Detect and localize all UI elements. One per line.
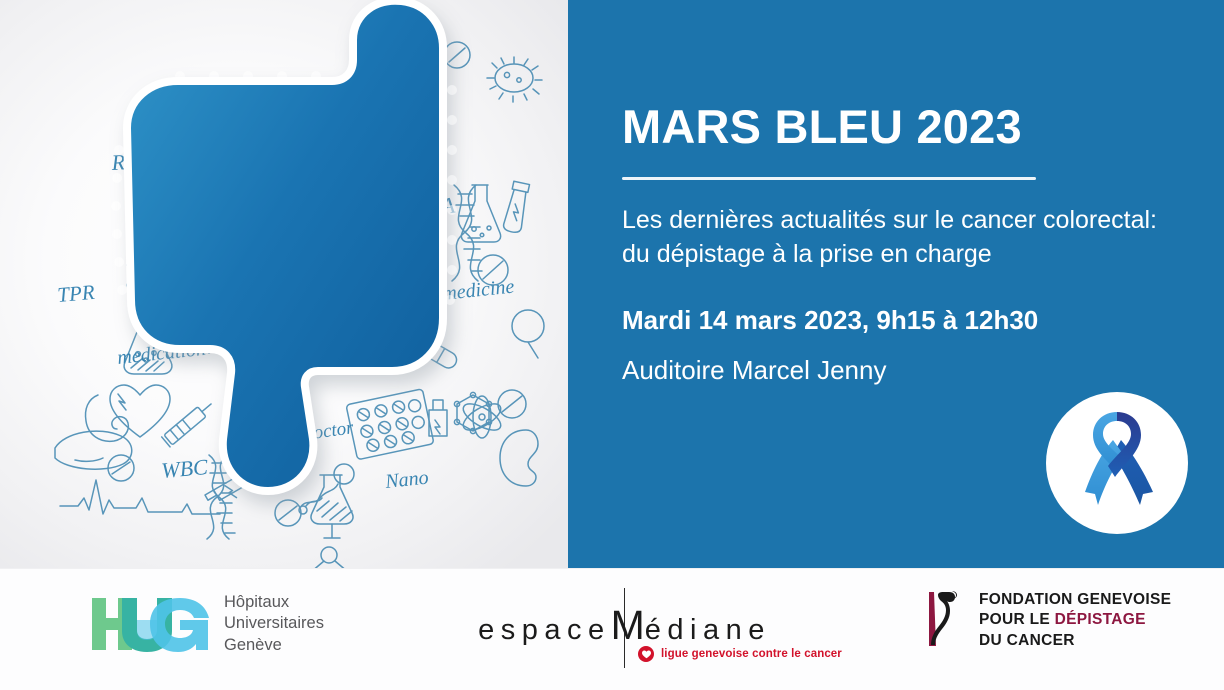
awareness-ribbon-badge [1046, 392, 1188, 534]
fondation-figure-icon [925, 590, 965, 648]
fondation-wordmark: FONDATION GENEVOISE POUR LE DÉPISTAGE DU… [979, 590, 1171, 651]
fondation-line-1: FONDATION GENEVOISE [979, 590, 1171, 610]
poster-title: MARS BLEU 2023 [622, 102, 1022, 151]
hug-wordmark: Hôpitaux Universitaires Genève [224, 592, 324, 656]
fondation-line-2-accent: DÉPISTAGE [1055, 611, 1146, 628]
fondation-line-2-prefix: POUR LE [979, 611, 1055, 628]
hug-line-3: Genève [224, 635, 324, 656]
illustration-panel: virus RBC TPR medication WBC DNA medicin… [0, 0, 568, 568]
poster-subtitle: Les dernières actualités sur le cancer c… [622, 203, 1182, 271]
hug-mark-icon [92, 596, 210, 652]
event-datetime: Mardi 14 mars 2023, 9h15 à 12h30 [622, 305, 1038, 336]
ligue-tagline-text: ligue genevoise contre le cancer [661, 648, 842, 660]
logo-espace-mediane[interactable]: espaceMédiane ligue genevoise contre le … [452, 588, 797, 668]
fondation-line-3: DU CANCER [979, 631, 1171, 651]
logo-hug[interactable]: Hôpitaux Universitaires Genève [92, 592, 324, 656]
logo-fondation-genevoise[interactable]: FONDATION GENEVOISE POUR LE DÉPISTAGE DU… [925, 590, 1171, 651]
red-heart-badge-icon [638, 646, 654, 662]
event-venue: Auditoire Marcel Jenny [622, 355, 886, 386]
mediane-word-after: édiane [645, 614, 771, 646]
mediane-word-before: espace [478, 614, 611, 646]
mediane-word-m: M [611, 602, 645, 648]
illustration-inner: virus RBC TPR medication WBC DNA medicin… [0, 0, 568, 568]
mediane-wordmark: espaceMédiane [452, 602, 797, 649]
title-divider [622, 177, 1036, 180]
fondation-line-2: POUR LE DÉPISTAGE [979, 610, 1171, 630]
hug-line-2: Universitaires [224, 613, 324, 634]
ligue-tagline: ligue genevoise contre le cancer [638, 646, 842, 662]
hug-line-1: Hôpitaux [224, 592, 324, 613]
poster-root: virus RBC TPR medication WBC DNA medicin… [0, 0, 1224, 690]
colon-paper-cut-illustration [0, 0, 568, 568]
title-panel: MARS BLEU 2023 Les dernières actualités … [568, 0, 1224, 568]
blue-awareness-ribbon-icon [1069, 408, 1165, 518]
